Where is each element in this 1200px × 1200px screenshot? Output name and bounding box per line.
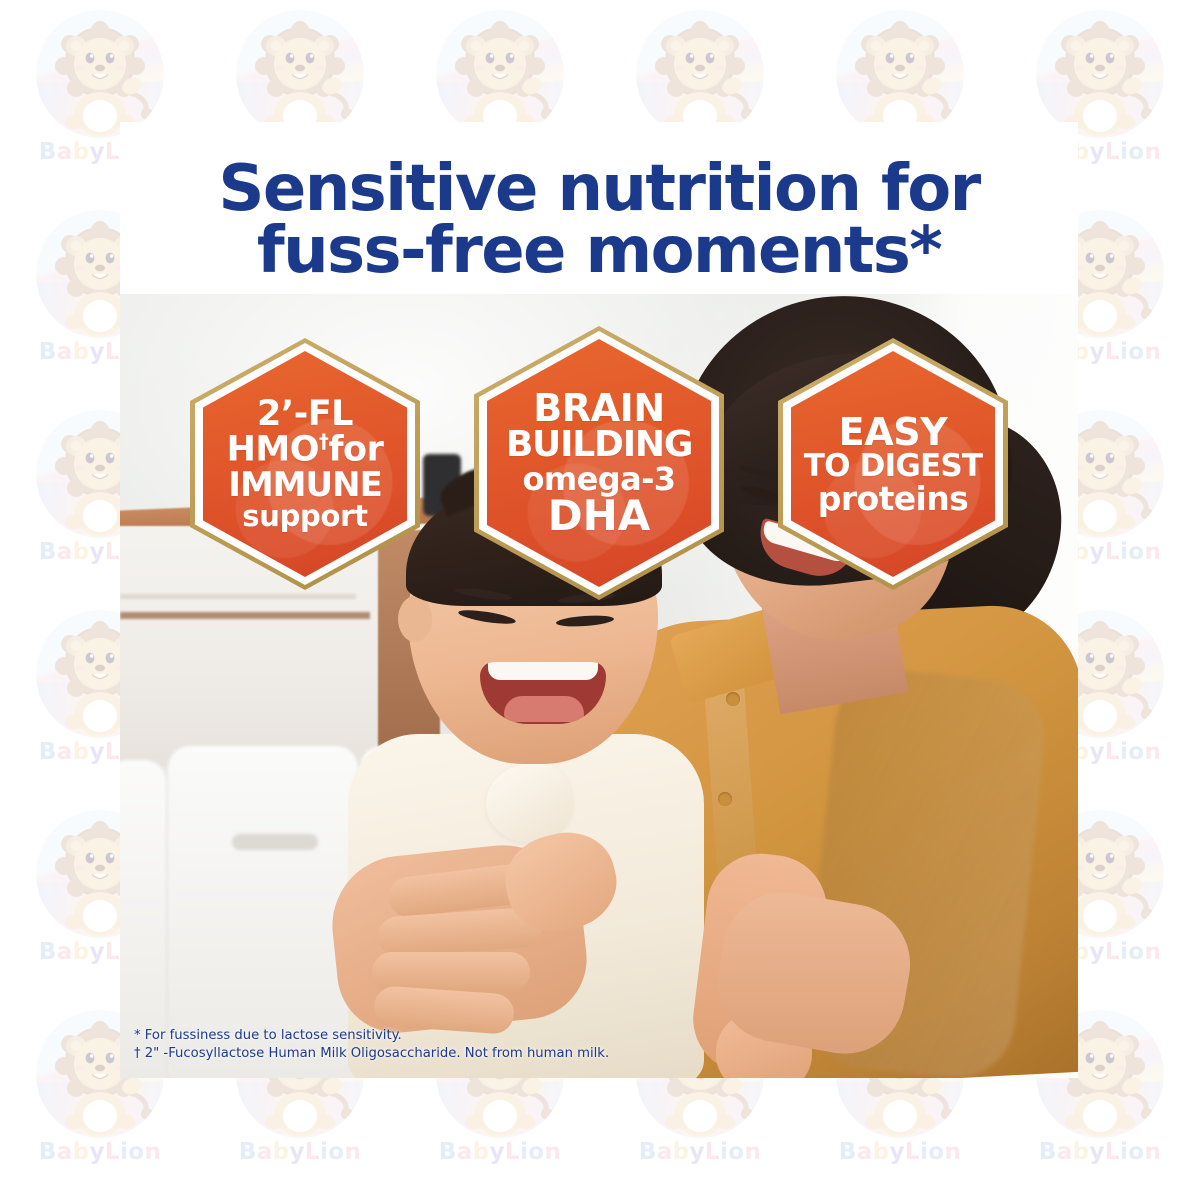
playpen-handle-left — [232, 834, 318, 850]
mother-shirt-button-2 — [718, 792, 732, 806]
creative-card: Sensitive nutrition for fuss-free moment… — [120, 122, 1078, 1078]
lion-mascot-icon — [836, 10, 964, 138]
mother-shirt-button-1 — [726, 692, 740, 706]
dresser-trim — [120, 612, 370, 619]
watermark-lion-badge — [1036, 10, 1164, 138]
badge3-line2: TO DIGEST — [804, 451, 982, 482]
lion-mascot-icon — [636, 10, 764, 138]
badge1-line4: support — [227, 502, 384, 531]
lion-mascot-icon — [236, 10, 364, 138]
watermark-lion-badge — [436, 10, 564, 138]
badge1-line1: 2’-FL — [227, 397, 384, 432]
baby-tongue — [504, 696, 584, 722]
badge3-line1: EASY — [804, 413, 982, 451]
watermark-brand-name: BabyLion — [639, 1141, 761, 1164]
lion-mascot-icon — [436, 10, 564, 138]
badge1-line2-hmo: HMO — [227, 430, 319, 470]
badge1-line2-for: for — [328, 430, 383, 470]
watermark-lion-badge — [636, 10, 764, 138]
badge2-line2: BUILDING — [506, 427, 692, 463]
badge2-line4: DHA — [506, 495, 692, 537]
page-root: BabyLion — [0, 0, 1200, 1200]
baby-teeth — [488, 662, 598, 680]
baby-ear — [398, 596, 432, 642]
easy-digest-badge-text: EASY TO DIGEST proteins — [794, 413, 992, 515]
hmo-immune-badge-text: 2’-FL HMO†for IMMUNE support — [217, 397, 394, 531]
watermark-brand-name: BabyLion — [239, 1141, 361, 1164]
badge1-dagger: † — [319, 430, 328, 453]
page-title: Sensitive nutrition for fuss-free moment… — [120, 158, 1078, 282]
watermark-brand-name: BabyLion — [439, 1141, 561, 1164]
badge2-line1: BRAIN — [506, 389, 692, 427]
watermark-lion-badge — [836, 10, 964, 138]
watermark-brand-name: BabyLion — [1039, 1141, 1161, 1164]
headline-line-2: fuss-free moments* — [120, 220, 1078, 282]
easy-digest-badge[interactable]: EASY TO DIGEST proteins — [778, 338, 1008, 590]
badge1-line3: IMMUNE — [227, 468, 384, 502]
dha-brain-badge[interactable]: BRAIN BUILDING omega-3 DHA — [474, 326, 724, 600]
footnotes: * For fussiness due to lactose sensitivi… — [134, 1027, 609, 1064]
headline-line-1: Sensitive nutrition for — [120, 158, 1078, 220]
claim-badge-row: 2’-FL HMO†for IMMUNE support BRAIN BUILD… — [120, 338, 1078, 600]
watermark-brand-name: BabyLion — [39, 1141, 161, 1164]
lion-mascot-icon — [36, 10, 164, 138]
footnote-dagger: † 2" -Fucosyllactose Human Milk Oligosac… — [134, 1045, 609, 1064]
watermark-brand-name: BabyLion — [839, 1141, 961, 1164]
badge1-line2: HMO†for — [227, 432, 384, 468]
lion-mascot-icon — [1036, 10, 1164, 138]
watermark-lion-badge — [236, 10, 364, 138]
badge3-line3: proteins — [804, 482, 982, 515]
dha-brain-badge-text: BRAIN BUILDING omega-3 DHA — [496, 389, 702, 537]
hmo-immune-badge[interactable]: 2’-FL HMO†for IMMUNE support — [190, 338, 420, 590]
footnote-asterisk: * For fussiness due to lactose sensitivi… — [134, 1027, 609, 1046]
watermark-lion-badge — [36, 10, 164, 138]
